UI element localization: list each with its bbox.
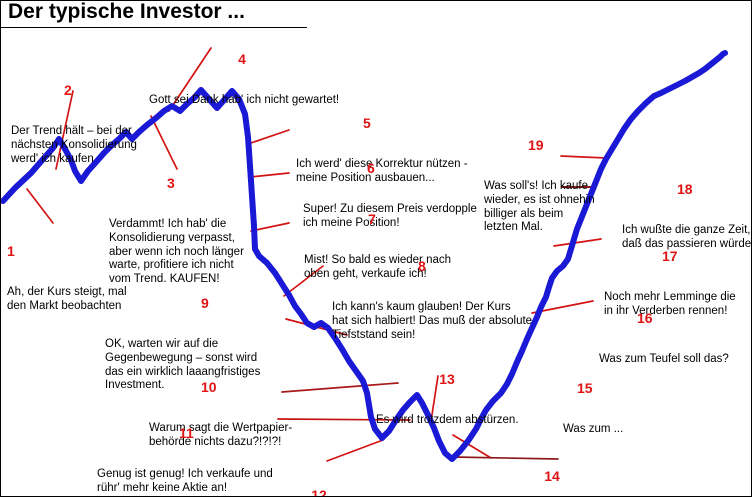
annotation-12-number: 12: [199, 488, 439, 497]
leader-line-6: [250, 173, 289, 177]
chart-canvas: Der typische Investor ...: [0, 0, 752, 497]
annotation-17-text: Noch mehr Lemminge die in ihr Verderben …: [604, 291, 736, 318]
annotation-19-text: Was soll's! Ich kaufe wieder, es ist ohn…: [484, 180, 595, 234]
annotation-12: 12 Zum Glück hab' ich alles verkauft!: [273, 461, 439, 497]
annotation-6-number: 6: [367, 161, 477, 176]
annotation-13-text: Es wird trotzdem abstürzen.: [376, 414, 518, 428]
annotation-4-number: 4: [149, 52, 335, 67]
annotation-19: 19 Was soll's! Ich kaufe wieder, es ist …: [484, 111, 595, 262]
annotation-19-number: 19: [528, 138, 595, 153]
annotation-16-text: Was zum Teufel soll das?: [599, 353, 729, 367]
annotation-11-number: 11: [179, 426, 273, 441]
annotation-9-number: 9: [201, 296, 260, 311]
annotation-7-number: 7: [368, 212, 451, 227]
annotation-5-number: 5: [363, 116, 468, 131]
annotation-10-number: 10: [201, 380, 292, 395]
annotation-18-number: 18: [677, 182, 752, 197]
annotation-14-number: 14: [495, 469, 609, 484]
leader-line-12: [327, 440, 383, 461]
annotation-15-text: Was zum ...: [563, 423, 623, 437]
annotation-8-text: Ich kann's kaum glauben! Der Kurs hat si…: [332, 301, 532, 342]
annotation-2-number: 2: [64, 83, 137, 98]
annotation-3-number: 3: [167, 176, 244, 191]
annotation-18: 18 Ich wußte die ganze Zeit, daß das pas…: [622, 155, 752, 279]
annotation-13-number: 13: [376, 372, 518, 387]
annotation-11: 11 Genug ist genug! Ich verkaufe und rüh…: [97, 399, 273, 497]
annotation-13: 13 Es wird trotzdem abstürzen.: [376, 345, 518, 455]
annotation-18-text: Ich wußte die ganze Zeit, daß das passie…: [622, 224, 752, 251]
